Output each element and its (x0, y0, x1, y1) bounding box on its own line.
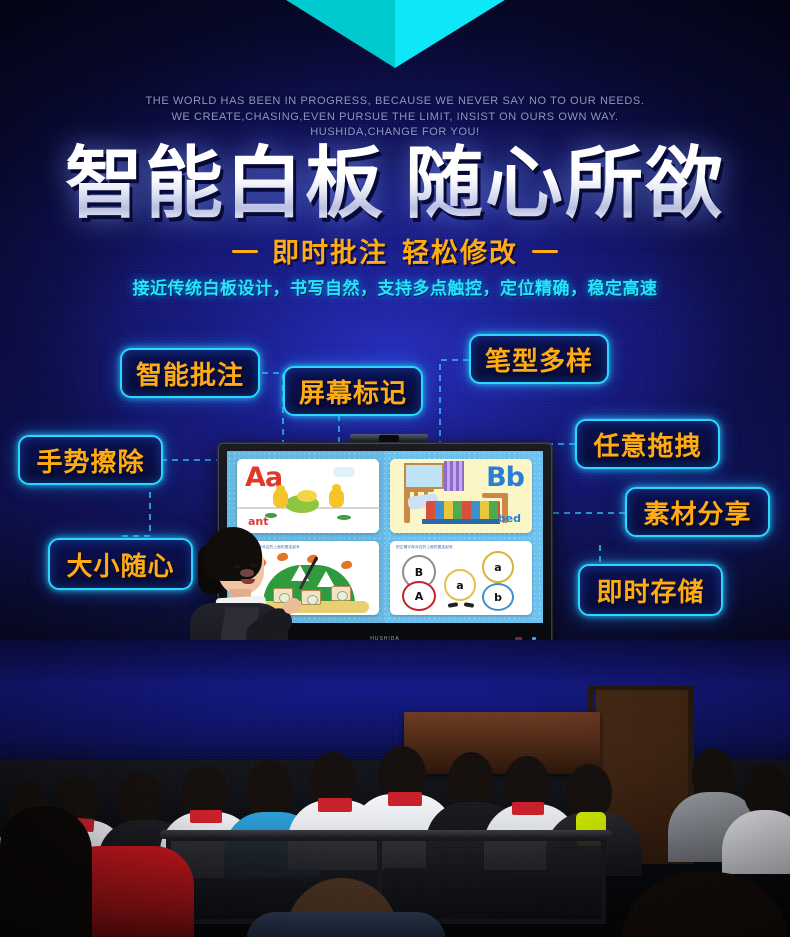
feature-tag-3-label: 笔型多样 (485, 341, 593, 378)
feature-tag-7[interactable]: 大小随心 (48, 538, 193, 590)
student-head (246, 760, 292, 818)
letter-circle-a-upper[interactable]: A (402, 581, 436, 611)
student-scarf (190, 810, 222, 823)
lesson-card-activity-2[interactable]: 把正确字母对应的上面的图连起来 B a a A (390, 541, 532, 615)
feature-tag-2[interactable]: 屏幕标记 (283, 366, 423, 416)
letter-circle-b-lower[interactable]: b (482, 583, 514, 611)
feature-tag-7-label: 大小随心 (66, 546, 174, 583)
letter-bb: Bb (486, 462, 524, 493)
letter-circle-a-mid-label: a (444, 569, 476, 601)
feature-tag-1-label: 智能批注 (136, 355, 244, 392)
feature-tag-2-label: 屏幕标记 (299, 373, 407, 410)
foreground-head (0, 806, 92, 937)
student-scarf (388, 792, 422, 806)
student-scarf (512, 802, 544, 815)
word-bed: bed (498, 512, 521, 525)
student-scarf (318, 798, 352, 812)
classroom-podium (404, 712, 600, 774)
promo-banner: THE WORLD HAS BEEN IN PROGRESS, BECAUSE … (0, 0, 790, 937)
camera-lens-icon (379, 435, 399, 442)
feature-tag-1[interactable]: 智能批注 (120, 348, 260, 398)
lesson-card-bb[interactable]: Bb bed (390, 459, 532, 533)
classroom-railing-top (160, 830, 612, 839)
feature-tag-3[interactable]: 笔型多样 (469, 334, 609, 384)
camera-bar-icon (350, 434, 428, 443)
feature-tag-8-label: 即时存储 (596, 572, 704, 609)
letter-circle-a-lower-label: a (482, 551, 514, 583)
letter-circle-a-lower[interactable]: a (482, 551, 514, 583)
lesson-card-aa[interactable]: Aa ant (237, 459, 379, 533)
letter-circle-a-upper-label: A (402, 581, 436, 611)
presenter-eye-right (250, 564, 257, 567)
foreground-shoulders (246, 912, 446, 937)
presenter-eye-left (234, 565, 241, 568)
presenter-cheek (240, 569, 254, 577)
feature-tag-4[interactable]: 手势擦除 (18, 435, 163, 485)
letter-circle-b-lower-label: b (482, 583, 514, 611)
feature-tag-6-label: 素材分享 (643, 494, 751, 531)
feature-tag-8[interactable]: 即时存储 (578, 564, 723, 616)
letter-circle-a-mid[interactable]: a (444, 569, 476, 601)
feature-tag-5[interactable]: 任意拖拽 (575, 419, 720, 469)
feature-tag-5-label: 任意拖拽 (593, 426, 701, 463)
feature-tag-6[interactable]: 素材分享 (625, 487, 770, 537)
activity-caption-2: 把正确字母对应的上面的图连起来 (396, 545, 453, 550)
feature-tag-4-label: 手势擦除 (36, 442, 144, 479)
